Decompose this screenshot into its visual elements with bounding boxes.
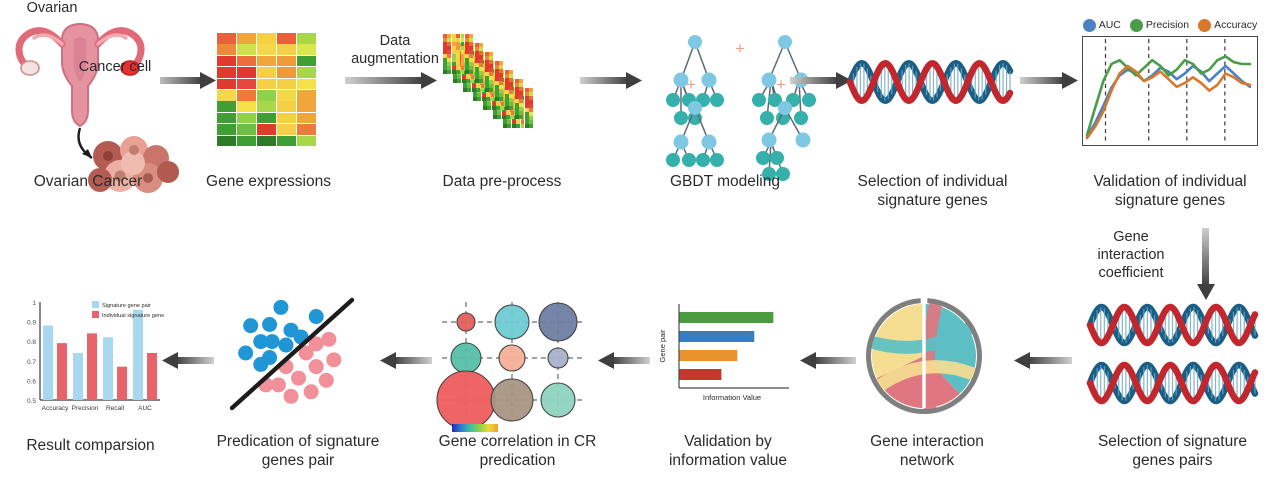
preprocess-cell xyxy=(512,120,516,124)
caption-prediction-pairs: Predication of signature genes pair xyxy=(208,432,388,470)
heatmap-cell xyxy=(277,67,296,78)
legend-item: Precision xyxy=(1130,19,1189,32)
arrow-7 xyxy=(798,352,856,370)
preprocess-cell xyxy=(505,106,509,110)
tree-node xyxy=(760,111,774,125)
information-value-chart: Information ValueGene pair xyxy=(655,296,790,414)
bar-accuracy-pair xyxy=(43,326,53,400)
tree-node xyxy=(778,35,792,49)
preprocess-cell xyxy=(493,111,497,115)
preprocess-cell xyxy=(452,38,456,42)
validation-curves-chart: AUCPrecisionAccuracy xyxy=(1082,14,1258,164)
caption-line1: Gene interaction xyxy=(870,433,984,450)
heatmap-cell xyxy=(257,90,276,101)
curve-precision xyxy=(1087,56,1250,135)
tree-node xyxy=(674,111,688,125)
scatter-point-class-pink xyxy=(309,359,324,374)
heatmap-cell xyxy=(217,79,236,90)
preprocess-cell xyxy=(503,124,507,128)
heatmap-cell xyxy=(297,44,316,55)
caption-gbdt-modeling: GBDT modeling xyxy=(650,172,800,191)
preprocess-cell xyxy=(465,46,469,50)
preprocess-cell xyxy=(469,38,473,42)
preprocess-cell xyxy=(447,54,451,58)
preprocess-cell xyxy=(467,88,471,92)
preprocess-cell xyxy=(461,34,465,38)
heatmap-cell xyxy=(257,44,276,55)
caption-line1: Predication of signature xyxy=(217,433,380,450)
gic-line1: Gene xyxy=(1113,229,1148,245)
preprocess-cell xyxy=(461,42,465,46)
preprocess-cell xyxy=(516,120,520,124)
correlation-bubble xyxy=(437,371,495,429)
validation-legend: AUCPrecisionAccuracy xyxy=(1082,14,1258,36)
preprocess-cell xyxy=(466,79,470,83)
preprocess-cell xyxy=(453,75,457,79)
correlation-colorbar xyxy=(452,424,498,432)
correlation-bubble xyxy=(541,383,575,417)
preprocess-cell xyxy=(452,66,456,70)
tree-node xyxy=(752,93,766,107)
heatmap-cell xyxy=(217,67,236,78)
legend-swatch xyxy=(92,311,99,318)
preprocess-cell xyxy=(461,58,465,62)
heatmap-cell xyxy=(237,136,256,147)
data-augmentation-line1: Data xyxy=(380,33,411,49)
preprocess-cell xyxy=(453,79,457,83)
preprocess-cell xyxy=(495,93,499,97)
bar-auc-individual xyxy=(147,353,157,400)
heatmap-cell xyxy=(257,33,276,44)
preprocess-cell xyxy=(452,54,456,58)
preprocess-cell xyxy=(487,102,491,106)
preprocess-cell xyxy=(499,93,503,97)
correlation-bubble xyxy=(539,303,577,341)
preprocess-cell xyxy=(486,97,490,101)
preprocess-cell xyxy=(502,111,506,115)
data-augmentation-label: Data augmentation xyxy=(345,32,445,68)
arrow-10 xyxy=(160,352,214,370)
x-tick-label: Recall xyxy=(106,405,125,412)
heatmap-cell xyxy=(297,101,316,112)
heatmap-cell xyxy=(217,136,236,147)
heatmap-cell xyxy=(277,90,296,101)
bar-auc-pair xyxy=(133,310,143,400)
preprocess-cell xyxy=(473,93,477,97)
heatmap-cell xyxy=(237,90,256,101)
tree-node xyxy=(802,93,816,107)
preprocess-cell xyxy=(447,34,451,38)
preprocess-layer xyxy=(443,34,481,74)
preprocess-cell xyxy=(443,42,447,46)
legend-swatch xyxy=(1083,19,1096,32)
preprocess-cell xyxy=(469,34,473,38)
preprocess-cell xyxy=(456,70,460,74)
preprocess-cell xyxy=(447,46,451,50)
caption-line1: Gene correlation in CR xyxy=(439,433,597,450)
scatter-point-class-pink xyxy=(291,371,306,386)
preprocess-cell xyxy=(457,79,461,83)
preprocess-cell xyxy=(506,111,510,115)
scatter-point-class-pink xyxy=(304,384,319,399)
caption-line1: Validation of individual xyxy=(1093,173,1246,190)
correlation-bubble xyxy=(451,343,481,373)
preprocess-cell xyxy=(443,50,447,54)
arrow-6 xyxy=(1012,352,1072,370)
scatter-point-class-pink xyxy=(284,389,299,404)
preprocess-cell xyxy=(443,70,447,74)
arrow-4 xyxy=(790,72,852,90)
y-axis-label: Gene pair xyxy=(658,329,667,362)
preprocess-cell xyxy=(509,106,513,110)
heatmap-cell xyxy=(237,44,256,55)
heatmap-cell xyxy=(237,79,256,90)
scatter-point-class-blue xyxy=(309,309,324,324)
preprocess-cell xyxy=(506,115,510,119)
preprocess-cell xyxy=(499,97,503,101)
correlation-bubble xyxy=(491,379,533,421)
tree-node xyxy=(688,101,702,115)
heatmap-cell xyxy=(277,79,296,90)
preprocess-cell xyxy=(456,62,460,66)
gic-line3: coefficient xyxy=(1098,265,1163,281)
preprocess-cell xyxy=(452,62,456,66)
preprocess-cell xyxy=(476,84,480,88)
preprocess-cell xyxy=(443,46,447,50)
gbdt-trees: +++ xyxy=(655,28,825,156)
prediction-scatter xyxy=(218,282,368,422)
x-tick-label: AUC xyxy=(138,405,152,412)
heatmap-cell xyxy=(297,124,316,135)
preprocess-cell xyxy=(476,88,480,92)
preprocess-cell xyxy=(479,75,483,79)
legend-label: Accuracy xyxy=(1214,19,1257,31)
caption-gene-interaction-network: Gene interaction network xyxy=(852,432,1002,470)
gene-interaction-coefficient-label: Gene interaction coefficient xyxy=(1072,228,1190,282)
heatmap-cell xyxy=(217,124,236,135)
preprocess-cell xyxy=(496,106,500,110)
heatmap-cell xyxy=(277,33,296,44)
preprocess-cell xyxy=(452,50,456,54)
heatmap-cell xyxy=(257,101,276,112)
gic-line2: interaction xyxy=(1098,247,1165,263)
preprocess-cell xyxy=(489,84,493,88)
preprocess-cell xyxy=(447,42,451,46)
preprocess-cell xyxy=(443,58,447,62)
preprocess-cell xyxy=(511,111,515,115)
correlation-bubble xyxy=(548,348,568,368)
decision-tree xyxy=(666,101,724,167)
preprocess-cell xyxy=(505,102,509,106)
tree-node xyxy=(666,93,680,107)
caption-line1: Selection of individual xyxy=(858,173,1008,190)
preprocess-cell xyxy=(496,102,500,106)
caption-line1: Selection of signature xyxy=(1098,433,1247,450)
heatmap-cell xyxy=(217,113,236,124)
preprocess-cell xyxy=(466,75,470,79)
preprocess-cell xyxy=(456,50,460,54)
validation-plot-area xyxy=(1082,36,1258,146)
preprocess-cell xyxy=(452,58,456,62)
y-tick-label: 0.6 xyxy=(27,378,36,385)
gene-expression-heatmap xyxy=(217,33,317,147)
preprocess-cell xyxy=(503,120,507,124)
arrow-3 xyxy=(580,72,642,90)
tree-node xyxy=(762,133,777,148)
caption-line2: signature genes xyxy=(877,192,987,209)
heatmap-cell xyxy=(297,79,316,90)
preprocess-cell xyxy=(461,38,465,42)
legend-label: Precision xyxy=(1146,19,1189,31)
tree-node xyxy=(794,111,808,125)
preprocess-cell xyxy=(477,93,481,97)
preprocess-cell xyxy=(447,58,451,62)
tree-node xyxy=(710,153,724,167)
gene-correlation-bubbles xyxy=(436,296,588,422)
heatmap-cell xyxy=(217,33,236,44)
preprocess-cell xyxy=(462,75,466,79)
preprocess-cell xyxy=(486,93,490,97)
preprocess-cell xyxy=(469,46,473,50)
preprocess-cell xyxy=(481,84,485,88)
y-tick-label: 0.7 xyxy=(27,359,36,366)
preprocess-cell xyxy=(443,38,447,42)
curve-accuracy xyxy=(1087,66,1250,138)
heatmap-cell xyxy=(237,113,256,124)
preprocess-cell xyxy=(456,58,460,62)
legend-label: Individual signature gene xyxy=(102,313,164,319)
iv-bar xyxy=(679,331,754,342)
tree-node xyxy=(710,93,724,107)
preprocess-cell xyxy=(456,38,460,42)
preprocess-cell xyxy=(469,62,473,66)
preprocess-cell xyxy=(482,93,486,97)
tree-node xyxy=(778,101,792,115)
bar-recall-individual xyxy=(117,367,127,400)
preprocess-cell xyxy=(479,79,483,83)
preprocess-cell xyxy=(461,50,465,54)
preprocess-cell xyxy=(443,66,447,70)
heatmap-cell xyxy=(297,136,316,147)
plus-icon: + xyxy=(686,75,696,94)
preprocess-cell xyxy=(465,66,469,70)
preprocess-cell xyxy=(485,84,489,88)
preprocess-cell xyxy=(512,124,516,128)
bar-precision-individual xyxy=(87,333,97,400)
preprocess-cell xyxy=(452,42,456,46)
plus-icon: + xyxy=(735,39,745,58)
preprocess-cell xyxy=(495,97,499,101)
caption-gene-expressions: Gene expressions xyxy=(196,172,341,191)
preprocess-cell xyxy=(456,66,460,70)
data-augmentation-line2: augmentation xyxy=(351,51,439,67)
preprocess-cell xyxy=(525,120,529,124)
preprocess-cell xyxy=(461,54,465,58)
y-tick-label: 1 xyxy=(32,300,36,307)
y-tick-label: 0.5 xyxy=(27,398,36,405)
x-tick-label: Accuracy xyxy=(42,405,69,412)
dna-helix-pair xyxy=(1090,300,1255,408)
tree-node xyxy=(702,135,717,150)
preprocess-cell xyxy=(481,88,485,92)
preprocess-cell xyxy=(457,75,461,79)
arrow-down-connector xyxy=(1196,228,1216,300)
chord-ribbon xyxy=(928,307,935,406)
scatter-point-class-blue xyxy=(262,317,277,332)
preprocess-cell xyxy=(475,75,479,79)
caption-data-preprocess: Data pre-process xyxy=(428,172,576,191)
preprocess-cell xyxy=(456,46,460,50)
heatmap-cell xyxy=(217,44,236,55)
preprocess-cell xyxy=(492,106,496,110)
preprocess-cell xyxy=(469,66,473,70)
preprocess-cell xyxy=(507,124,511,128)
heatmap-cell xyxy=(257,56,276,67)
caption-line2: predication xyxy=(480,452,556,469)
caption-validation-individual: Validation of individual signature genes xyxy=(1070,172,1270,210)
iv-bar xyxy=(679,369,721,380)
preprocess-cell xyxy=(475,79,479,83)
scatter-point-class-pink xyxy=(271,377,286,392)
preprocess-cell xyxy=(469,42,473,46)
preprocess-cell xyxy=(443,54,447,58)
preprocess-cell xyxy=(483,102,487,106)
heatmap-cell xyxy=(237,56,256,67)
tree-node xyxy=(762,73,777,88)
preprocess-cell xyxy=(452,34,456,38)
heatmap-cell xyxy=(297,90,316,101)
preprocess-cell xyxy=(521,120,525,124)
arrow-2 xyxy=(345,72,437,90)
bar-precision-pair xyxy=(73,353,83,400)
preprocess-cell xyxy=(465,42,469,46)
preprocess-cell xyxy=(465,62,469,66)
preprocess-cell xyxy=(463,88,467,92)
heatmap-cell xyxy=(277,101,296,112)
preprocess-cell xyxy=(501,106,505,110)
preprocess-cell xyxy=(465,50,469,54)
arrow-8 xyxy=(596,352,650,370)
preprocess-cell xyxy=(529,124,533,128)
ovarian-label: Ovarian xyxy=(12,0,92,17)
scatter-point-class-blue xyxy=(238,346,253,361)
preprocess-cell xyxy=(447,38,451,42)
preprocess-cell xyxy=(465,70,469,74)
tree-node xyxy=(682,153,696,167)
heatmap-cell xyxy=(257,79,276,90)
preprocess-cell xyxy=(502,115,506,119)
tree-node xyxy=(770,151,784,165)
preprocess-cell xyxy=(443,62,447,66)
heatmap-cell xyxy=(297,56,316,67)
preprocess-cell xyxy=(465,38,469,42)
preprocess-cell xyxy=(516,124,520,128)
preprocess-cell xyxy=(443,34,447,38)
tree-node xyxy=(688,35,702,49)
heatmap-cell xyxy=(257,124,276,135)
preprocess-cell xyxy=(447,70,451,74)
heatmap-cell xyxy=(277,136,296,147)
heatmap-cell xyxy=(217,90,236,101)
heatmap-cell xyxy=(277,44,296,55)
arrow-5 xyxy=(1020,72,1078,90)
x-axis-label: Information Value xyxy=(703,393,761,402)
heatmap-cell xyxy=(277,124,296,135)
preprocess-cell xyxy=(465,58,469,62)
heatmap-cell xyxy=(257,113,276,124)
chord-diagram xyxy=(862,294,986,418)
scatter-point-class-blue xyxy=(265,334,280,349)
preprocess-cell xyxy=(497,115,501,119)
preprocess-cell xyxy=(519,111,523,115)
y-tick-label: 0.9 xyxy=(27,320,36,327)
preprocess-cell xyxy=(525,124,529,128)
preprocess-cell xyxy=(515,115,519,119)
preprocess-cell xyxy=(447,50,451,54)
dna-helix-single xyxy=(850,56,1010,108)
heatmap-cell xyxy=(277,56,296,67)
preprocess-cell xyxy=(456,54,460,58)
heatmap-cell xyxy=(237,33,256,44)
preprocess-cell xyxy=(491,97,495,101)
preprocess-cell xyxy=(447,62,451,66)
scatter-point-class-pink xyxy=(319,373,334,388)
preprocess-cell xyxy=(456,34,460,38)
preprocess-cell xyxy=(511,115,515,119)
preprocess-cell xyxy=(487,106,491,110)
heatmap-cell xyxy=(257,136,276,147)
cancer-cell-label: Cancer cell xyxy=(60,58,170,76)
plus-icon: + xyxy=(776,75,786,94)
preprocess-cell xyxy=(485,88,489,92)
heatmap-cell xyxy=(237,101,256,112)
preprocess-cell xyxy=(515,111,519,115)
preprocess-cell xyxy=(471,75,475,79)
preprocess-cell xyxy=(497,111,501,115)
caption-line2: network xyxy=(900,452,954,469)
legend-swatch xyxy=(92,301,99,308)
tree-node xyxy=(674,135,689,150)
preprocess-cell xyxy=(465,54,469,58)
preprocess-cell xyxy=(489,88,493,92)
heatmap-cell xyxy=(297,33,316,44)
tree-node xyxy=(666,153,680,167)
preprocess-cell xyxy=(467,84,471,88)
preprocess-cell xyxy=(461,66,465,70)
y-tick-label: 0.8 xyxy=(27,339,36,346)
tree-node xyxy=(702,73,717,88)
preprocess-cell xyxy=(462,79,466,83)
tree-node xyxy=(696,153,710,167)
preprocess-cell xyxy=(472,88,476,92)
preprocess-cell xyxy=(465,34,469,38)
preprocess-cell xyxy=(529,120,533,124)
preprocess-cell xyxy=(469,58,473,62)
legend-item: AUC xyxy=(1083,19,1121,32)
workflow-figure: Ovarian Cancer cell Ovarian Cancer Gene … xyxy=(0,0,1270,495)
caption-line2: information value xyxy=(669,452,787,469)
heatmap-cell xyxy=(297,67,316,78)
tree-node xyxy=(756,151,770,165)
legend-label: AUC xyxy=(1099,19,1121,31)
preprocess-cell xyxy=(519,115,523,119)
preprocess-cell xyxy=(469,50,473,54)
data-preprocess-stack xyxy=(443,34,561,150)
caption-selection-pairs: Selection of signature genes pairs xyxy=(1075,432,1270,470)
preprocess-cell xyxy=(461,62,465,66)
caption-line2: genes pairs xyxy=(1132,452,1212,469)
preprocess-cell xyxy=(477,97,481,101)
